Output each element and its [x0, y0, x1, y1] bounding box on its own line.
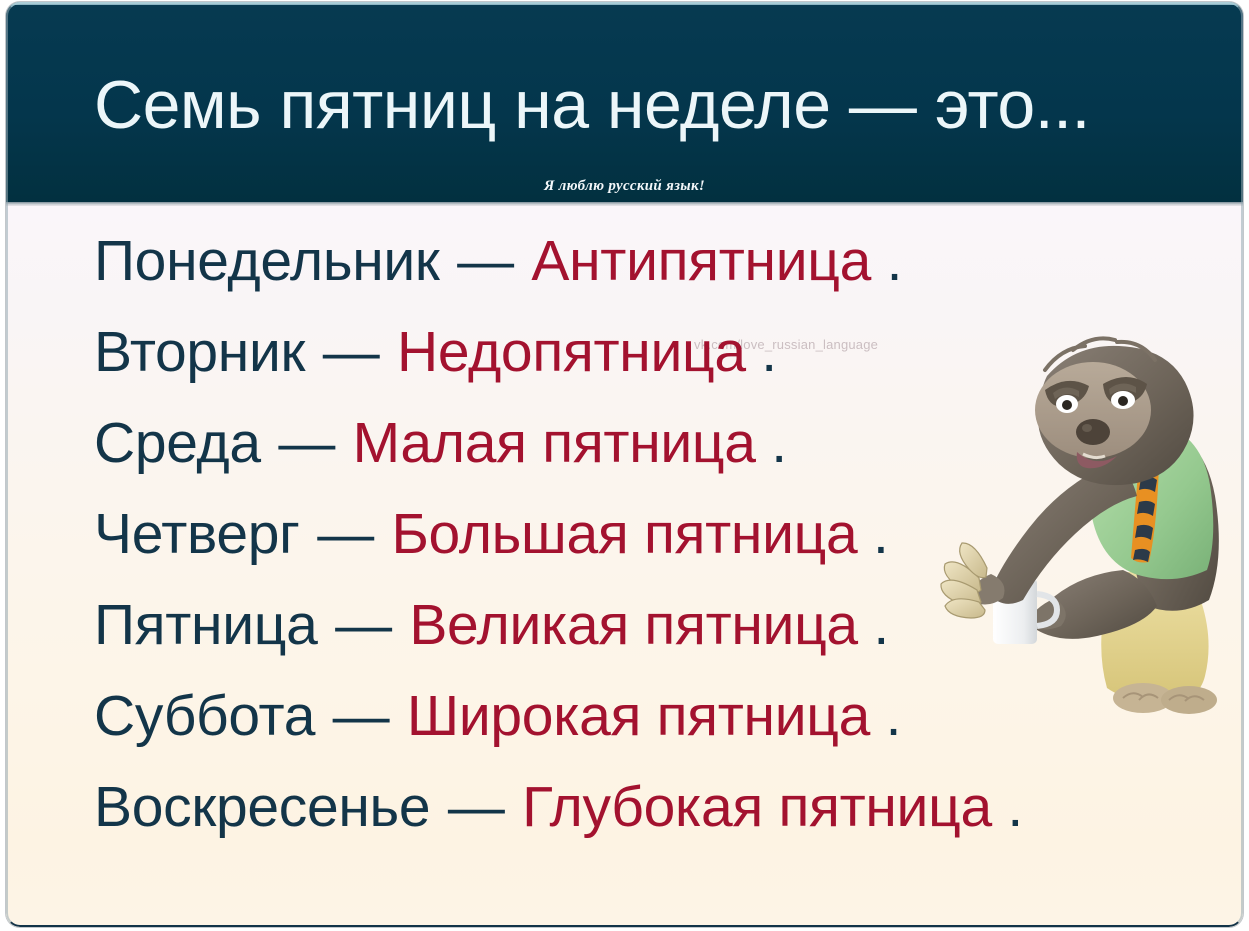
poster-card: Семь пятниц на неделе — это... Я люблю р…: [6, 2, 1243, 927]
weekday-label: Четверг: [94, 502, 300, 566]
friday-nickname: Большая пятница: [391, 502, 857, 566]
weekday-list: Понедельник — Антипятница . Вторник — Не…: [6, 216, 1243, 853]
period-mark: .: [771, 411, 787, 475]
list-item: Суббота — Широкая пятница .: [6, 671, 1243, 762]
em-dash-separator: —: [455, 229, 516, 293]
weekday-label: Понедельник: [94, 229, 440, 293]
period-mark: .: [873, 593, 889, 657]
poster-body: vk.com/love_russian_language Понедельник…: [6, 206, 1243, 927]
em-dash-separator: —: [321, 320, 382, 384]
period-mark: .: [761, 320, 777, 384]
weekday-label: Среда: [94, 411, 261, 475]
list-item: Четверг — Большая пятница .: [6, 489, 1243, 580]
em-dash-separator: —: [331, 684, 392, 748]
period-mark: .: [886, 684, 902, 748]
friday-nickname: Широкая пятница: [407, 684, 870, 748]
list-item: Среда — Малая пятница .: [6, 398, 1243, 489]
header-top-highlight: [6, 2, 1243, 5]
header-subtitle: Я люблю русский язык!: [6, 178, 1243, 195]
list-item: Понедельник — Антипятница .: [6, 216, 1243, 307]
weekday-label: Пятница: [94, 593, 318, 657]
list-item: Вторник — Недопятница .: [6, 307, 1243, 398]
friday-nickname: Антипятница: [531, 229, 871, 293]
list-item: Воскресенье — Глубокая пятница .: [6, 762, 1243, 853]
friday-nickname: Великая пятница: [409, 593, 858, 657]
em-dash-separator: —: [276, 411, 337, 475]
period-mark: .: [887, 229, 903, 293]
period-mark: .: [873, 502, 889, 566]
list-item: Пятница — Великая пятница .: [6, 580, 1243, 671]
page-title: Семь пятниц на неделе — это...: [94, 66, 1164, 144]
em-dash-separator: —: [446, 775, 507, 839]
friday-nickname: Недопятница: [397, 320, 746, 384]
em-dash-separator: —: [333, 593, 394, 657]
weekday-label: Суббота: [94, 684, 315, 748]
em-dash-separator: —: [315, 502, 376, 566]
poster-header: Семь пятниц на неделе — это... Я люблю р…: [6, 2, 1243, 206]
friday-nickname: Глубокая пятница: [522, 775, 992, 839]
weekday-label: Воскресенье: [94, 775, 430, 839]
friday-nickname: Малая пятница: [353, 411, 756, 475]
weekday-label: Вторник: [94, 320, 305, 384]
period-mark: .: [1007, 775, 1023, 839]
